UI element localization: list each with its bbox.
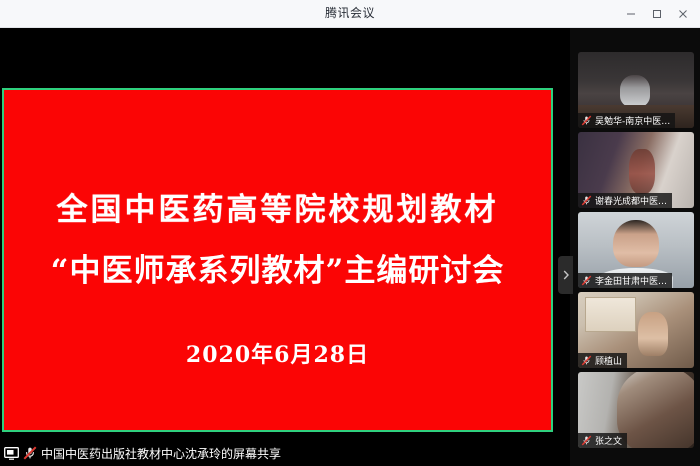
close-button[interactable] bbox=[670, 3, 696, 25]
window-title: 腾讯会议 bbox=[0, 0, 700, 27]
participant-tile[interactable]: 张之文 bbox=[578, 372, 694, 448]
sidebar-collapse-button[interactable] bbox=[558, 256, 573, 294]
mic-muted-icon bbox=[581, 435, 592, 446]
screen-share-status-text: 中国中医药出版社教材中心沈承玲的屏幕共享 bbox=[41, 445, 281, 462]
participant-label: 李金田甘肃中医… bbox=[578, 273, 672, 288]
participant-name: 吴勉华-南京中医… bbox=[595, 114, 670, 127]
mic-muted-icon bbox=[581, 115, 592, 126]
participant-tile[interactable]: 吴勉华-南京中医… bbox=[578, 52, 694, 128]
minimize-button[interactable] bbox=[618, 3, 644, 25]
participant-tile[interactable]: 顾植山 bbox=[578, 292, 694, 368]
screen-share-highlight-border bbox=[2, 88, 553, 432]
participant-name: 谢春光成都中医… bbox=[595, 194, 667, 207]
mic-muted-icon bbox=[581, 275, 592, 286]
screen-share-icon bbox=[4, 447, 19, 460]
screen-share-status-bar: 中国中医药出版社教材中心沈承玲的屏幕共享 bbox=[0, 440, 570, 466]
chevron-right-icon bbox=[562, 269, 570, 281]
maximize-button[interactable] bbox=[644, 3, 670, 25]
participant-name: 张之文 bbox=[595, 434, 622, 447]
participant-name: 顾植山 bbox=[595, 354, 622, 367]
mic-muted-icon bbox=[581, 195, 592, 206]
participant-label: 吴勉华-南京中医… bbox=[578, 113, 675, 128]
window-controls bbox=[618, 0, 696, 27]
mic-muted-icon bbox=[581, 355, 592, 366]
participant-tile[interactable]: 李金田甘肃中医… bbox=[578, 212, 694, 288]
tencent-meeting-window: 腾讯会议 全国中医药高等院校规划教材 bbox=[0, 0, 700, 466]
title-bar: 腾讯会议 bbox=[0, 0, 700, 28]
participant-name: 李金田甘肃中医… bbox=[595, 274, 667, 287]
participant-label: 谢春光成都中医… bbox=[578, 193, 672, 208]
meeting-stage: 全国中医药高等院校规划教材 “中医师承系列教材”主编研讨会 2020年6月28日 bbox=[0, 28, 700, 466]
participant-label: 顾植山 bbox=[578, 353, 627, 368]
participant-thumbnail-strip[interactable]: 吴勉华-南京中医… 谢春光成都中医… bbox=[570, 28, 700, 466]
mic-muted-icon bbox=[23, 446, 37, 460]
participant-tile[interactable]: 谢春光成都中医… bbox=[578, 132, 694, 208]
participant-label: 张之文 bbox=[578, 433, 627, 448]
